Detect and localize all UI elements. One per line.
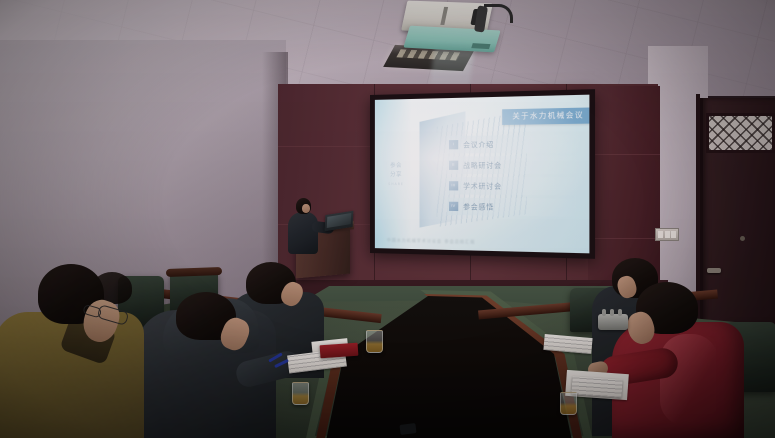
slide-title: 关于水力机械会议 — [503, 107, 590, 125]
slide-side-label-line1: 参会 — [382, 162, 410, 171]
projector-vent — [440, 7, 448, 25]
slide-agenda-item: II 战略研讨会 — [447, 156, 583, 174]
presenter-face — [302, 204, 310, 213]
slide-agenda-item: IV 参会感悟 — [447, 198, 583, 217]
door-lattice-grille — [709, 116, 772, 150]
slide-item-label: 学术研讨会 — [463, 180, 502, 191]
projector-lower-body — [403, 26, 500, 53]
slide-side-label-sub: SHARE — [382, 182, 410, 187]
tea-glass[interactable] — [366, 330, 383, 353]
door-knob[interactable] — [740, 236, 745, 241]
tea-glass[interactable] — [560, 392, 577, 415]
conference-room-photo: 参会 分享 SHARE 关于水力机械会议 I 会议介绍 II 战略研讨会 III… — [0, 0, 775, 438]
presenter-torso — [288, 212, 318, 254]
red-notebook[interactable] — [320, 343, 359, 359]
microphone-cluster[interactable] — [598, 314, 628, 330]
projection-screen-frame: 参会 分享 SHARE 关于水力机械会议 I 会议介绍 II 战略研讨会 III… — [370, 89, 595, 259]
projection-screen: 参会 分享 SHARE 关于水力机械会议 I 会议介绍 II 战略研讨会 III… — [375, 95, 590, 254]
paper-document[interactable] — [571, 376, 622, 397]
slide-item-label: 会议介绍 — [463, 139, 494, 150]
slide-footer-text: 中国水力机械学术讨论会 参会总结汇报 — [387, 237, 562, 247]
light-switch-plate[interactable] — [655, 228, 679, 241]
slide-agenda-item: III 学术研讨会 — [447, 177, 583, 195]
slide-item-label: 参会感悟 — [463, 201, 494, 212]
mobile-phone[interactable] — [399, 423, 416, 435]
slide-item-label: 战略研讨会 — [463, 160, 502, 170]
door-handle[interactable] — [707, 268, 721, 273]
slide-item-numeral: I — [449, 140, 458, 149]
tea-glass[interactable] — [292, 382, 309, 405]
attendee-jacket-highlight — [660, 334, 718, 426]
door-glass-window — [706, 113, 775, 153]
slide-side-label: 参会 分享 SHARE — [382, 162, 410, 187]
slide-item-numeral: IV — [449, 201, 458, 210]
slide-agenda-list: I 会议介绍 II 战略研讨会 III 学术研讨会 IV 参会感悟 — [447, 134, 583, 220]
slide-item-numeral: III — [449, 181, 458, 190]
slide-item-numeral: II — [449, 160, 458, 169]
slide-side-label-line2: 分享 — [382, 171, 410, 180]
slide-agenda-item: I 会议介绍 — [447, 134, 583, 153]
